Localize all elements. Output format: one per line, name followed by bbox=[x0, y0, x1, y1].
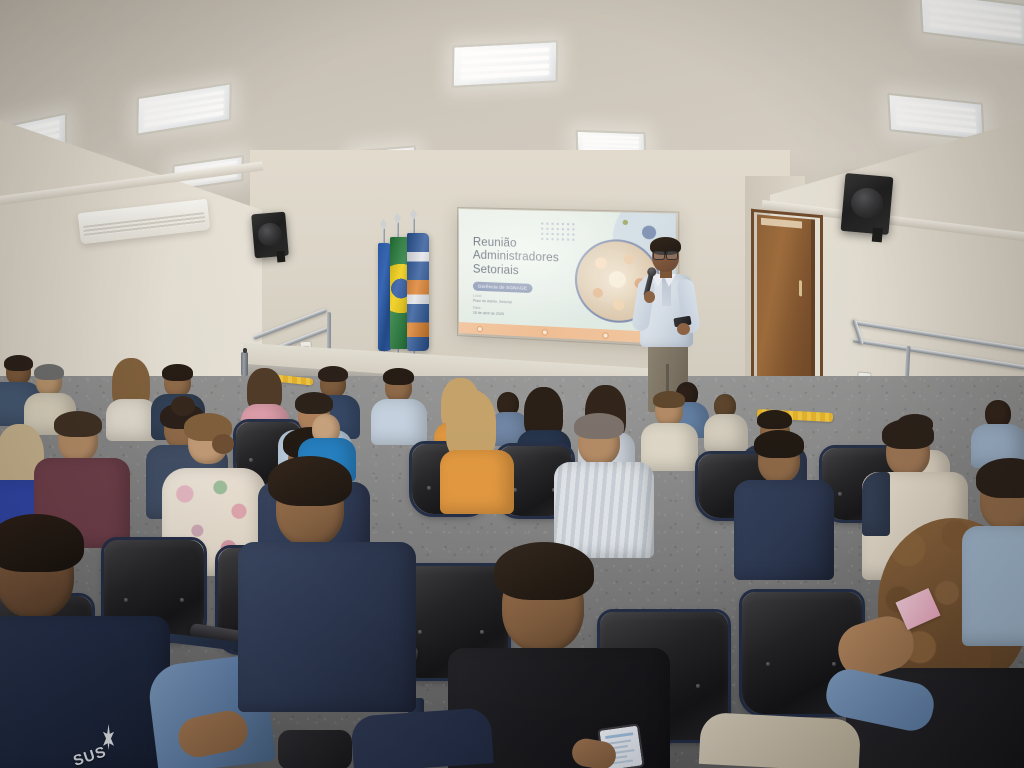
wall-speaker-right bbox=[841, 173, 894, 235]
torso bbox=[704, 414, 748, 452]
auditorium-photo: Reunião Administradores Setoriais Gerênc… bbox=[0, 0, 1024, 768]
torso bbox=[962, 526, 1024, 646]
hair bbox=[295, 392, 333, 414]
presenter-hand-left bbox=[644, 291, 655, 303]
slide-meta-value-1: Piauí de Admin, Setorial bbox=[473, 299, 512, 305]
torso bbox=[238, 542, 416, 712]
flag-state bbox=[407, 233, 429, 351]
hair bbox=[754, 430, 804, 458]
torso bbox=[641, 423, 698, 471]
slide-meta-value-2: 18 de abril de 2025 bbox=[473, 311, 504, 317]
hair bbox=[318, 366, 348, 382]
slide-dot-accent bbox=[623, 220, 628, 225]
slide-subtitle-pill: Gerência de SGNAGE bbox=[473, 282, 532, 293]
hair-bun bbox=[212, 434, 234, 454]
hair bbox=[882, 419, 934, 449]
hair bbox=[574, 413, 624, 439]
water-bottle[interactable] bbox=[241, 352, 248, 377]
hair bbox=[268, 456, 352, 506]
hair bbox=[4, 355, 33, 371]
torso bbox=[440, 450, 514, 514]
ceiling-light bbox=[887, 93, 984, 141]
glasses-icon bbox=[652, 251, 679, 258]
presenter bbox=[630, 229, 706, 409]
hair bbox=[976, 458, 1024, 498]
hair bbox=[0, 514, 84, 572]
attendee-legs bbox=[350, 707, 494, 768]
hair-bun bbox=[171, 396, 195, 416]
presenter-hand-right bbox=[677, 323, 690, 335]
torso bbox=[371, 399, 427, 445]
ceiling-light bbox=[136, 82, 231, 136]
wall-speaker-left bbox=[251, 212, 289, 259]
vest-shoulder bbox=[862, 472, 890, 536]
hair bbox=[34, 364, 64, 380]
torso bbox=[554, 462, 654, 558]
slide-footer-icon bbox=[602, 332, 608, 339]
ceiling-light bbox=[452, 40, 559, 88]
hair bbox=[757, 410, 792, 429]
hair bbox=[54, 411, 102, 437]
hair bbox=[494, 542, 594, 600]
slide-meta-label-2: Data bbox=[473, 306, 481, 310]
torso bbox=[0, 616, 170, 768]
slide-footer-icon bbox=[477, 325, 483, 331]
torso bbox=[734, 480, 834, 580]
ceiling-light bbox=[919, 0, 1024, 47]
slide-meta-label-1: Local bbox=[473, 294, 482, 298]
hair bbox=[383, 368, 414, 385]
slide-footer-icon bbox=[542, 329, 548, 335]
hair bbox=[162, 364, 193, 381]
hair bbox=[653, 391, 685, 408]
attendee-legs bbox=[699, 712, 862, 768]
backpack bbox=[278, 730, 352, 768]
slide-title: Reunião Administradores Setoriais bbox=[473, 236, 559, 279]
wooden-door[interactable] bbox=[757, 214, 815, 381]
